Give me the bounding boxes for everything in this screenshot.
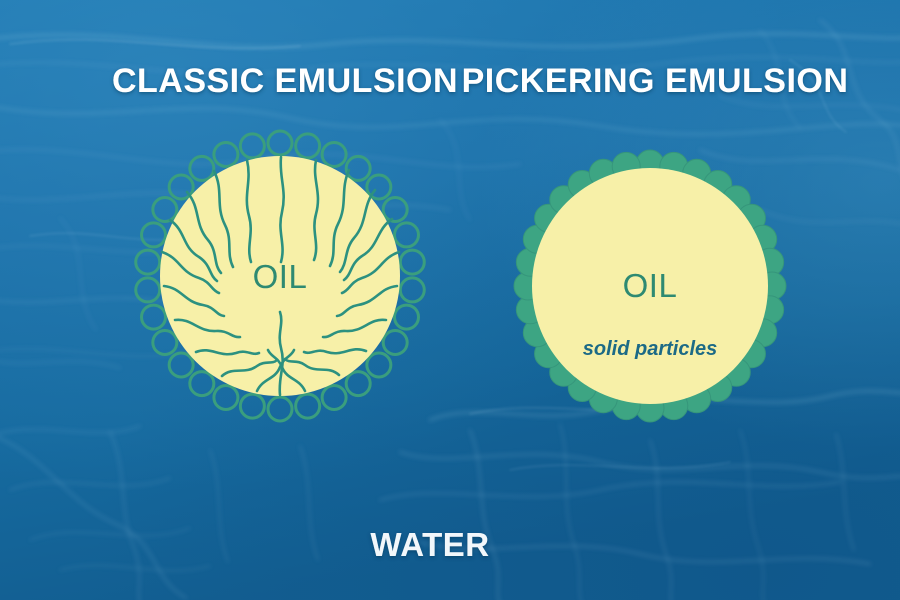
surfactant-head-icon [240,394,264,418]
emulsion-illustration: OIL OIL solid particles CLASSIC EMULSION… [0,0,900,600]
classic-emulsion-title: CLASSIC EMULSION [112,62,458,100]
surfactant-head-icon [400,278,424,302]
surfactant-head-icon [214,143,238,167]
surfactant-head-icon [383,331,407,355]
classic-emulsion-group: OIL [136,131,425,421]
surfactant-head-icon [169,353,193,377]
pickering-emulsion-title: PICKERING EMULSION [462,62,849,100]
pickering-emulsion-group: OIL solid particles [514,150,786,422]
surfactant-head-icon [153,331,177,355]
surfactant-head-icon [153,198,177,222]
surfactant-head-icon [394,305,418,329]
surfactant-head-icon [142,223,166,247]
surfactant-head-icon [367,353,391,377]
surfactant-head-icon [394,223,418,247]
surfactant-head-icon [136,250,160,274]
surfactant-head-icon [190,372,214,396]
surfactant-head-icon [240,134,264,158]
surfactant-head-icon [322,143,346,167]
surfactant-head-icon [296,394,320,418]
surfactant-head-icon [346,372,370,396]
pickering-oil-label: OIL [623,267,678,304]
water-label: WATER [370,526,489,563]
surfactant-head-icon [383,198,407,222]
solid-particles-label: solid particles [583,338,718,360]
surfactant-head-icon [142,305,166,329]
classic-oil-label: OIL [253,258,308,295]
surfactant-head-icon [296,134,320,158]
surfactant-head-icon [190,156,214,180]
emulsion-diagram-figure: OIL OIL solid particles CLASSIC EMULSION… [0,0,900,600]
surfactant-head-icon [136,278,160,302]
surfactant-head-icon [346,156,370,180]
surfactant-head-icon [400,250,424,274]
surfactant-head-icon [268,131,292,155]
surfactant-head-icon [268,397,292,421]
surfactant-head-icon [322,386,346,410]
surfactant-head-icon [214,386,238,410]
